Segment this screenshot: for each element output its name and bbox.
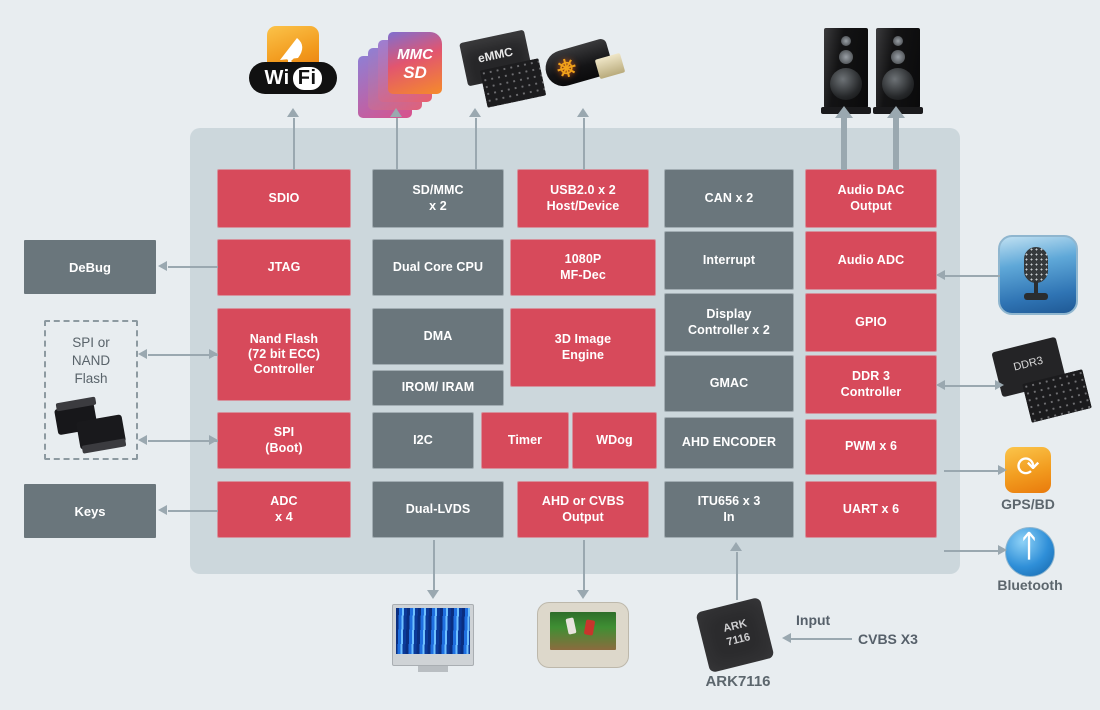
soc-block-wdog[interactable]: WDog (573, 413, 656, 468)
soc-block-i2c[interactable]: I2C (373, 413, 473, 468)
sd-card-front-icon: MMC SD (388, 32, 442, 94)
microphone-head-icon (1024, 247, 1048, 283)
soc-block-label: SPI (Boot) (265, 425, 302, 456)
soc-block-label: JTAG (268, 260, 301, 275)
soc-block-label: GMAC (710, 376, 749, 391)
soc-block-label: Timer (508, 433, 542, 448)
peripheral-spi-or-nand-flash[interactable]: SPI or NAND Flash (44, 320, 138, 460)
peripheral-keys[interactable]: Keys (24, 484, 156, 538)
soc-block-label: ADC x 4 (270, 494, 297, 525)
soc-block-jtag[interactable]: JTAG (218, 240, 350, 295)
connector-usb-drive (583, 118, 585, 170)
soc-block-label: DMA (424, 329, 453, 344)
tweeter-icon (841, 36, 851, 46)
soc-block-label: ITU656 x 3 In (698, 494, 761, 525)
arrow-left-cvbs (782, 633, 791, 643)
soc-block-label: I2C (413, 433, 433, 448)
soc-block-ahd-encoder[interactable]: AHD ENCODER (665, 418, 793, 468)
soc-block-label: Display Controller x 2 (688, 307, 770, 338)
soc-block-label: 1080P MF-Dec (560, 252, 606, 283)
soc-block-label: Dual-LVDS (406, 502, 471, 517)
monitor-stand-icon (418, 666, 448, 672)
soc-block-timer[interactable]: Timer (482, 413, 568, 468)
soc-block-label: DDR 3 Controller (841, 369, 902, 400)
arrow-up-wifi (287, 108, 299, 117)
peripheral-label: Keys (74, 504, 105, 519)
connector-uart-bluetooth (944, 550, 999, 552)
soc-block-label: Audio DAC Output (838, 183, 905, 214)
soc-block-audio-dac-output[interactable]: Audio DAC Output (806, 170, 936, 227)
arrow-right-bluetooth (998, 545, 1007, 555)
speakers-icon[interactable] (820, 26, 920, 118)
gps-label: GPS/BD (988, 496, 1068, 512)
connector-ahd-cvbs-carmon (583, 540, 585, 592)
soc-block-irom-iram[interactable]: IROM/ IRAM (373, 371, 503, 405)
connector-ddr3 (944, 385, 998, 387)
soc-block-ddr3-controller[interactable]: DDR 3 Controller (806, 356, 936, 413)
soc-block-label: UART x 6 (843, 502, 899, 517)
soc-block-itu656-x3-in[interactable]: ITU656 x 3 In (665, 482, 793, 537)
soc-block-interrupt[interactable]: Interrupt (665, 232, 793, 289)
soc-block-label: Interrupt (703, 253, 755, 268)
soc-block-label: 3D Image Engine (555, 332, 611, 363)
microphone-foot-icon (1024, 293, 1048, 300)
soc-block-display-controller-x2[interactable]: Display Controller x 2 (665, 294, 793, 351)
ark-chip-icon[interactable]: ARK7116 (702, 604, 772, 670)
woofer-icon (882, 68, 914, 100)
soc-block-label: USB2.0 x 2 Host/Device (547, 183, 620, 214)
soc-block-label: AHD or CVBS Output (542, 494, 624, 525)
connector-itu656-ark (736, 552, 738, 600)
ddr3-text: DDR3 (995, 350, 1062, 378)
speaker-right-icon (876, 28, 920, 108)
arrow-up-emmc (469, 108, 481, 117)
arrow-right-spi (209, 435, 218, 445)
ark-label: ARK7116 (688, 673, 788, 690)
soc-block-label: CAN x 2 (705, 191, 754, 206)
soc-block-label: GPIO (855, 315, 887, 330)
wifi-icon[interactable]: WiFi (249, 26, 337, 98)
emmc-chip-icon[interactable]: eMMC (455, 34, 547, 106)
gps-icon[interactable]: ⟳ (1005, 447, 1051, 493)
mmc-text: MMC (388, 46, 442, 63)
arrow-up-itu656 (730, 542, 742, 551)
midrange-icon (891, 50, 905, 64)
midrange-icon (839, 50, 853, 64)
headrest-screen-icon (550, 612, 616, 650)
connector-cvbs-input (790, 638, 852, 640)
connector-keys-adc (168, 510, 218, 512)
connector-dual-lvds-monitor (433, 540, 435, 592)
bluetooth-glyph-icon: ᛏ (1005, 532, 1053, 562)
connector-sdmmc-card (396, 118, 398, 170)
soc-block-label: Nand Flash (72 bit ECC) Controller (248, 332, 320, 378)
soc-block-can-x2[interactable]: CAN x 2 (665, 170, 793, 227)
peripheral-debug[interactable]: DeBug (24, 240, 156, 294)
arrow-down-carmon (577, 590, 589, 599)
bluetooth-label: Bluetooth (982, 577, 1078, 593)
arrow-up-speaker-right (887, 106, 905, 118)
connector-debug-jtag (168, 266, 218, 268)
arrow-left-audio-adc (936, 270, 945, 280)
peripheral-label: DeBug (69, 260, 111, 275)
arrow-right-gps (998, 465, 1007, 475)
sd-mmc-card-icon[interactable]: MMC SD (358, 32, 450, 106)
arrow-left-spi (138, 435, 147, 445)
soc-block-3d-image-engine[interactable]: 3D Image Engine (511, 309, 655, 386)
bluetooth-icon[interactable]: ᛏ (1005, 527, 1053, 575)
arrow-down-monitor (427, 590, 439, 599)
soc-block-dual-core-cpu[interactable]: Dual Core CPU (373, 240, 503, 295)
usb-flash-drive-icon[interactable]: ⎈ (545, 34, 629, 104)
sd-text: SD (388, 63, 442, 83)
soc-block-label: Dual Core CPU (393, 260, 483, 275)
ddr3-memory-icon[interactable]: DDR3 (996, 344, 1092, 420)
input-label: Input (796, 612, 830, 628)
soc-block-adc-x4[interactable]: ADC x 4 (218, 482, 350, 537)
arrow-left-nand (138, 349, 147, 359)
soc-block-pwm-x6[interactable]: PWM x 6 (806, 420, 936, 474)
soc-block-gpio[interactable]: GPIO (806, 294, 936, 351)
soc-block-sdio[interactable]: SDIO (218, 170, 350, 227)
arrow-right-nand (209, 349, 218, 359)
wifi-label: WiFi (249, 62, 337, 94)
tweeter-icon (893, 36, 903, 46)
connector-audio-speaker-left (841, 118, 847, 170)
headrest-shell-icon (537, 602, 629, 668)
car-headrest-monitor-icon[interactable] (537, 602, 629, 672)
microphone-icon[interactable] (998, 235, 1074, 313)
connector-spiflash-spiboot (148, 440, 218, 442)
soc-block-audio-adc[interactable]: Audio ADC (806, 232, 936, 289)
speaker-left-icon (824, 28, 868, 108)
soc-block-sd-mmc-x2[interactable]: SD/MMC x 2 (373, 170, 503, 227)
connector-sdio-wifi (293, 118, 295, 170)
connector-spiflash-nand (148, 354, 218, 356)
connector-usb-emmc (475, 118, 477, 170)
gps-compass-glyph-icon: ⟳ (1005, 453, 1051, 481)
soc-block-spi-boot[interactable]: SPI (Boot) (218, 413, 350, 468)
cvbs-label: CVBS X3 (858, 631, 918, 647)
soc-block-label: IROM/ IRAM (402, 380, 475, 395)
soc-block-uart-x6[interactable]: UART x 6 (806, 482, 936, 537)
peripheral-label: SPI or NAND Flash (46, 334, 136, 389)
soc-block-dma[interactable]: DMA (373, 309, 503, 364)
monitor-bezel-icon (392, 604, 474, 666)
lcd-monitor-icon[interactable] (392, 604, 474, 674)
arrow-up-speaker-left (835, 106, 853, 118)
woofer-icon (830, 68, 862, 100)
soc-block-label: SD/MMC x 2 (412, 183, 463, 214)
soc-block-dual-lvds[interactable]: Dual-LVDS (373, 482, 503, 537)
arrow-left-keys (158, 505, 167, 515)
connector-audioadc-mic (944, 275, 1000, 277)
arrow-up-usb (577, 108, 589, 117)
arrow-right-ddr3 (995, 380, 1004, 390)
soc-block-usb20-x2[interactable]: USB2.0 x 2 Host/Device (518, 170, 648, 227)
wifi-label-wi: Wi (264, 67, 289, 90)
soc-block-ahd-or-cvbs-output[interactable]: AHD or CVBS Output (518, 482, 648, 537)
arrow-left-ddr3 (936, 380, 945, 390)
connector-uart-gps (944, 470, 999, 472)
soc-block-nand-flash-controller[interactable]: Nand Flash (72 bit ECC) Controller (218, 309, 350, 400)
soc-block-label: PWM x 6 (845, 439, 897, 454)
soc-block-label: Audio ADC (838, 253, 904, 268)
connector-audio-speaker-right (893, 118, 899, 170)
monitor-screen-icon (396, 608, 470, 654)
arrow-left-debug (158, 261, 167, 271)
soc-block-1080p-mf-dec[interactable]: 1080P MF-Dec (511, 240, 655, 295)
soc-block-gmac[interactable]: GMAC (665, 356, 793, 411)
soc-block-label: AHD ENCODER (682, 435, 776, 450)
soc-block-label: SDIO (269, 191, 300, 206)
arrow-up-sdcard (390, 108, 402, 117)
wifi-label-fi: Fi (293, 67, 322, 90)
soc-block-label: WDog (596, 433, 633, 448)
